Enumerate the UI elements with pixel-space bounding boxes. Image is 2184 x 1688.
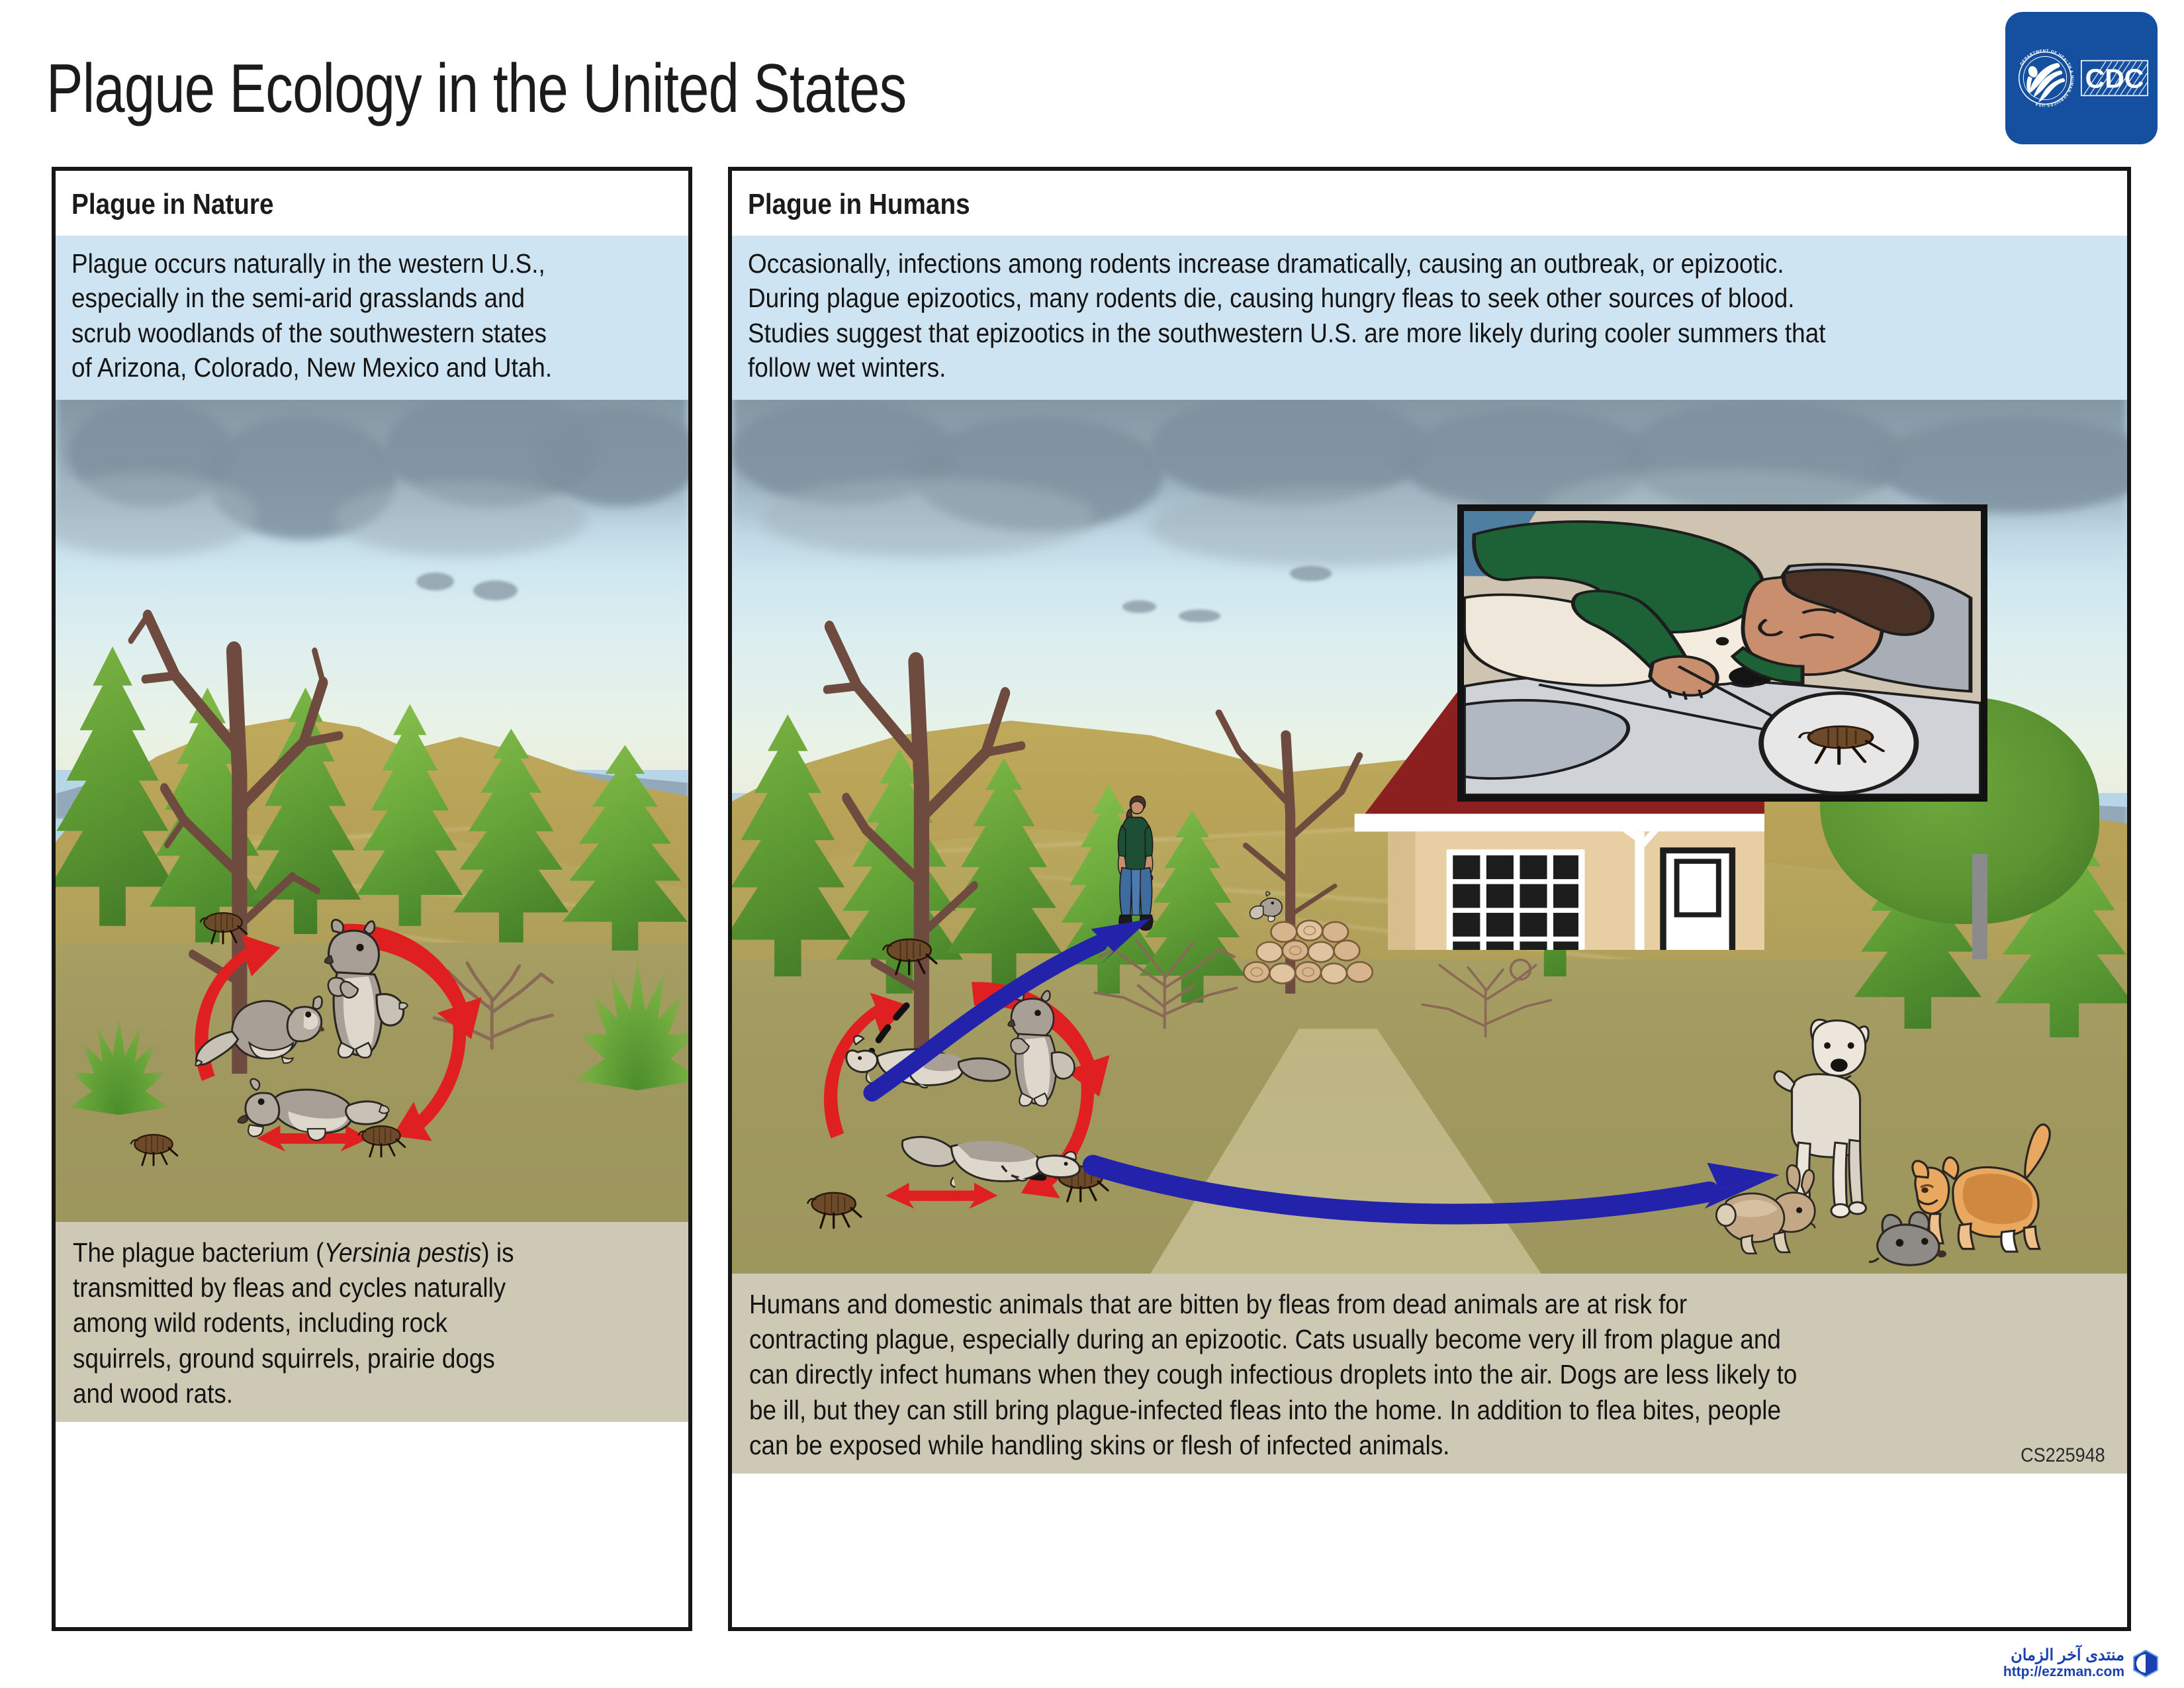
humans-illustration	[732, 400, 2127, 1274]
mouse	[1869, 1199, 1967, 1270]
caption-line: transmitted by fleas and cycles naturall…	[73, 1270, 612, 1305]
tree-trunk	[1972, 854, 1987, 959]
scientific-name: Yersinia pestis	[324, 1237, 481, 1268]
panel-humans-intro: Occasionally, infections among rodents i…	[732, 236, 2127, 400]
caption-line: contracting plague, especially during an…	[749, 1322, 1974, 1357]
small-cloud	[1122, 600, 1156, 612]
flea	[195, 902, 251, 951]
caption-line: Humans and domestic animals that are bit…	[749, 1287, 1974, 1322]
watermark-arabic-text: منتدى آخر الزمان	[2003, 1647, 2124, 1665]
juniper-tree	[543, 745, 688, 951]
bare-shrub	[1374, 950, 1597, 1037]
panel-humans-caption: Humans and domestic animals that are bit…	[732, 1274, 2127, 1474]
rock-squirrel-foraging	[226, 1049, 391, 1156]
inset-person-sleeping-with-dog	[1457, 504, 1987, 802]
panel-humans-header: Plague in Humans	[732, 171, 2127, 236]
hhs-seal-icon: DEPARTMENT OF HEALTH & HUMAN SERVICES·US…	[2013, 46, 2077, 110]
panel-plague-in-humans: Plague in Humans Occasionally, infection…	[728, 167, 2131, 1631]
panel-plague-in-nature: Plague in Nature Plague occurs naturally…	[52, 167, 692, 1631]
blue-spillover-arrow-to-pets	[1081, 1116, 1806, 1239]
caption-line: be ill, but they can still bring plague-…	[749, 1393, 1974, 1428]
small-cloud	[473, 581, 518, 600]
caption-line: squirrels, ground squirrels, prairie dog…	[73, 1341, 612, 1376]
watermark-url: http://ezzman.com	[2003, 1664, 2124, 1680]
caption-line: can directly infect humans when they cou…	[749, 1357, 1974, 1392]
cs-number: CS225948	[2021, 1442, 2105, 1468]
small-cloud	[416, 573, 454, 590]
caption-line: The plague bacterium (Yersinia pestis) i…	[73, 1235, 612, 1270]
cdc-logo: DEPARTMENT OF HEALTH & HUMAN SERVICES·US…	[2005, 12, 2158, 144]
blue-spillover-arrow-to-human	[858, 880, 1165, 1125]
caption-line: can be exposed while handling skins or f…	[749, 1428, 1974, 1463]
flea	[125, 1123, 182, 1173]
panel-nature-caption: The plague bacterium (Yersinia pestis) i…	[56, 1222, 688, 1422]
squirrel-on-woodpile	[1241, 889, 1300, 924]
cloud-wisp	[760, 479, 1095, 557]
rabbit	[1709, 1160, 1835, 1256]
cdc-brand-text: CDC	[2085, 64, 2144, 94]
page-title: Plague Ecology in the United States	[46, 54, 906, 123]
cloud-wisp	[334, 482, 587, 556]
nature-illustration	[56, 400, 688, 1222]
caption-line: among wild rodents, including rock	[73, 1305, 612, 1340]
caption-line: and wood rats.	[73, 1376, 612, 1411]
forum-watermark: منتدى آخر الزمان http://ezzman.com	[2003, 1647, 2160, 1680]
panel-nature-header: Plague in Nature	[56, 171, 688, 236]
cdc-wordmark-icon: CDC	[2079, 56, 2150, 100]
forum-hexagon-icon	[2131, 1649, 2160, 1678]
flea	[799, 1186, 868, 1230]
panel-nature-intro: Plague occurs naturally in the western U…	[56, 236, 688, 400]
